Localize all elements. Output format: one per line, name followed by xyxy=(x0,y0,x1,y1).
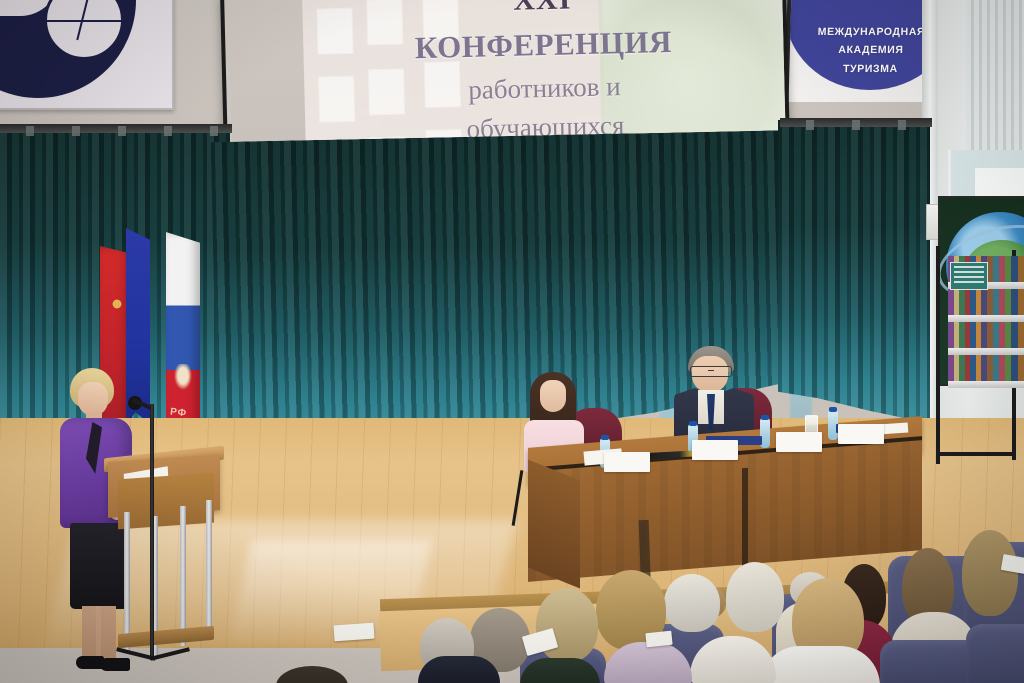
audience-head xyxy=(664,574,720,632)
placard-text xyxy=(604,452,650,456)
eyeglasses-icon xyxy=(690,366,732,377)
audience xyxy=(0,520,1024,683)
audience-head xyxy=(962,530,1018,616)
placard-text xyxy=(692,440,738,444)
flag-russia-tricolor: РФ xyxy=(166,232,200,448)
slide-line-3: работников и xyxy=(468,71,621,106)
name-placard xyxy=(776,432,822,452)
flag-eagle-emblem-icon xyxy=(174,364,192,390)
bottle-cap xyxy=(761,415,769,420)
conference-hall-photo: МЕЖДУНАРОДНАЯ АКАДЕМИЯ ТУРИЗМА xyxy=(0,0,1024,683)
program-card[interactable] xyxy=(645,631,672,648)
banner-line-1: МЕЖДУНАРОДНАЯ xyxy=(817,23,925,41)
audience-head xyxy=(276,666,348,683)
auditorium-seat[interactable] xyxy=(966,624,1024,683)
bottle-cap xyxy=(601,435,609,440)
audience-head xyxy=(536,588,598,662)
banner-disc-icon: МЕЖДУНАРОДНАЯ АКАДЕМИЯ ТУРИЗМА xyxy=(785,0,944,90)
audience-torso xyxy=(418,656,500,683)
curtain-grommets-right xyxy=(786,120,928,130)
audience-head xyxy=(726,562,784,632)
academy-name-banner: МЕЖДУНАРОДНАЯ АКАДЕМИЯ ТУРИЗМА xyxy=(785,0,944,102)
slide-line-2: КОНФЕРЕНЦИЯ xyxy=(414,24,672,66)
slide-line-1: XXI xyxy=(513,0,572,18)
rack-sign xyxy=(950,262,988,290)
placard-text xyxy=(776,432,822,436)
academy-emblem-panel xyxy=(0,0,174,110)
name-placard xyxy=(692,440,738,460)
stage-curtain-right xyxy=(778,120,930,436)
curtain-grommets-left xyxy=(6,126,230,136)
audience-torso xyxy=(520,658,600,683)
placard-text xyxy=(838,424,884,428)
program-card[interactable] xyxy=(333,623,374,642)
rack-crossbar xyxy=(936,452,1016,456)
name-placard xyxy=(838,424,884,444)
face xyxy=(78,382,108,416)
name-placard xyxy=(604,452,650,472)
bottle-cap xyxy=(689,421,697,426)
banner-line-3: ТУРИЗМА xyxy=(843,60,898,78)
bottle-cap xyxy=(829,407,837,412)
banner-line-2: АКАДЕМИЯ xyxy=(838,41,904,59)
rack-frame xyxy=(936,246,940,464)
face xyxy=(540,380,566,412)
